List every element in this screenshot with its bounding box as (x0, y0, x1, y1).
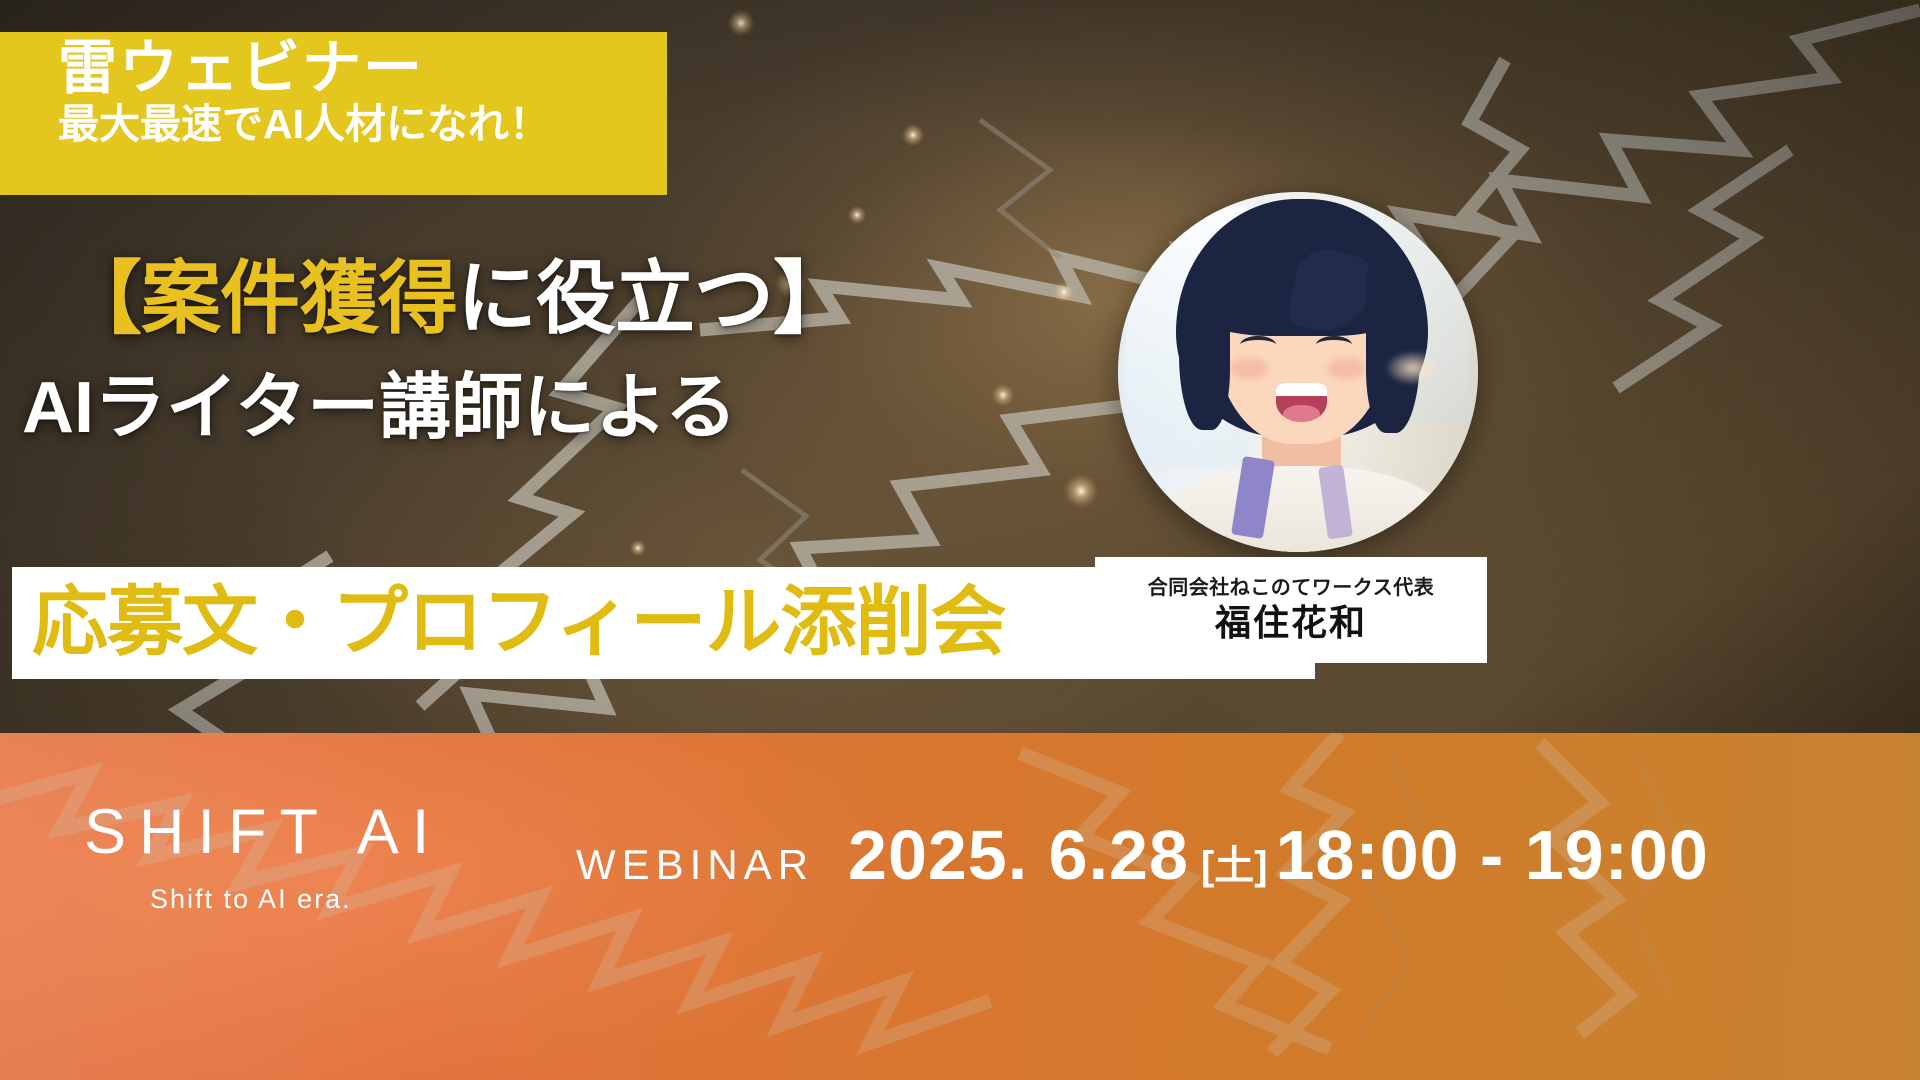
webinar-banner: 雷ウェビナー 最大最速でAI人材になれ！ 【案件獲得に役立つ】 AIライター講師… (0, 0, 1920, 1080)
headline-block: 【案件獲得に役立つ】 AIライター講師による (0, 252, 1110, 451)
avatar (1118, 192, 1478, 552)
session-title: 応募文・プロフィール添削会 (12, 585, 1005, 661)
webinar-day-of-week: [土] (1201, 833, 1268, 891)
logo-wordmark: SHIFT AI (84, 801, 484, 864)
headline-line-1: 【案件獲得に役立つ】 (0, 252, 1110, 346)
headline-accent-text: 【案件獲得 (62, 254, 457, 343)
footer-bar: SHIFT AI Shift to AI era. WEBINAR 2025. … (0, 733, 1920, 1080)
webinar-label: WEBINAR (576, 841, 814, 889)
headline-line-2: AIライター講師による (0, 366, 1110, 451)
speaker-info-box: 合同会社ねこのてワークス代表 福住花和 (1095, 557, 1487, 663)
webinar-schedule: WEBINAR 2025. 6.28 [土] 18:00 - 19:00 (576, 815, 1709, 895)
shift-ai-logo: SHIFT AI Shift to AI era. (84, 801, 484, 913)
speaker-name: 福住花和 (1215, 603, 1367, 643)
badge-subtitle: 最大最速でAI人材になれ！ (58, 103, 667, 146)
badge-title: 雷ウェビナー (58, 38, 667, 99)
promo-badge: 雷ウェビナー 最大最速でAI人材になれ！ (0, 32, 667, 195)
webinar-date: 2025. 6.28 (848, 815, 1189, 895)
webinar-time: 18:00 - 19:00 (1276, 815, 1709, 895)
logo-tagline: Shift to AI era. (150, 886, 484, 913)
headline-plain-text: に役立つ】 (457, 254, 852, 343)
speaker-company: 合同会社ねこのてワークス代表 (1148, 577, 1434, 599)
